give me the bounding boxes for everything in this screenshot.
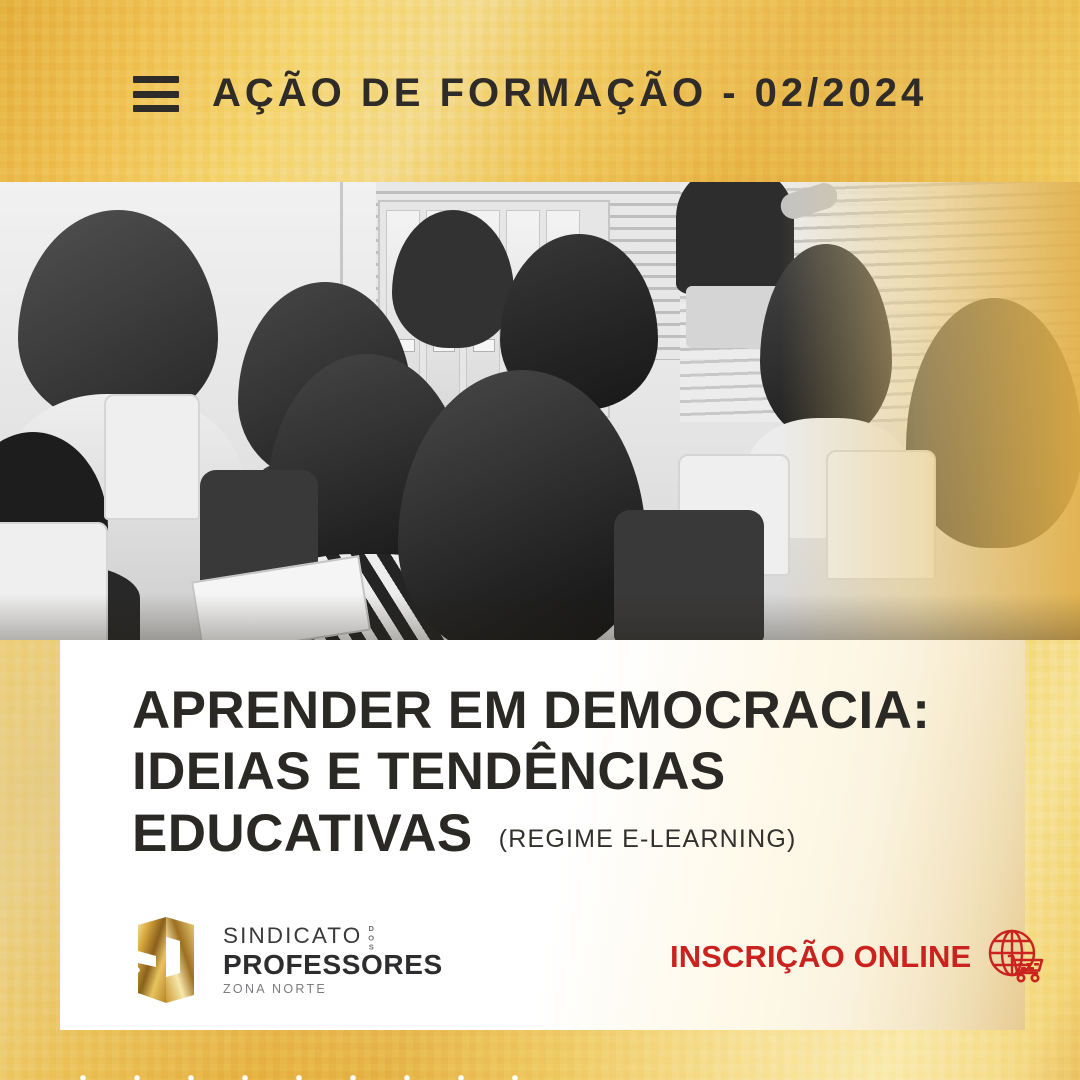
content-card: APRENDER EM DEMOCRACIA: IDEIAS E TENDÊNC… (60, 640, 1025, 1030)
logo-sindicato: SINDICATO (223, 925, 362, 948)
logo-dos: DOS (367, 924, 373, 946)
inscricao-online-label: INSCRIÇÃO ONLINE (670, 939, 971, 975)
title-block: APRENDER EM DEMOCRACIA: IDEIAS E TENDÊNC… (132, 680, 992, 864)
globe-shopping-cart-icon (985, 928, 1047, 986)
hamburger-menu-icon[interactable] (133, 76, 179, 112)
photo-bottom-shadow (0, 594, 1080, 640)
photo-gold-fade (780, 182, 1080, 640)
menu-bar-3 (133, 105, 179, 112)
logo-wordmark: SINDICATO DOS PROFESSORES ZONA NORTE (223, 925, 443, 995)
menu-bar-2 (133, 91, 179, 98)
logo-professores: PROFESSORES (223, 951, 443, 979)
classroom-photo (0, 182, 1080, 640)
dots-decoration-bottom (34, 1033, 554, 1080)
poster-canvas: AÇÃO DE FORMAÇÃO - 02/2024 (0, 0, 1080, 1080)
organization-logo[interactable]: SINDICATO DOS PROFESSORES ZONA NORTE (125, 915, 443, 1005)
page-title-line-1: APRENDER EM DEMOCRACIA: (132, 680, 992, 741)
page-title-line-2: IDEIAS E TENDÊNCIAS (132, 741, 992, 802)
page-title-row-3: EDUCATIVAS (REGIME E-LEARNING) (132, 803, 992, 864)
inscricao-online-button[interactable]: INSCRIÇÃO ONLINE (670, 928, 1047, 986)
sp-monogram-icon (125, 915, 207, 1005)
logo-zona-norte: ZONA NORTE (223, 983, 443, 996)
photo-chair (104, 394, 200, 520)
page-subtitle: (REGIME E-LEARNING) (499, 825, 797, 854)
photo-presenter-body (676, 182, 794, 294)
header-bar: AÇÃO DE FORMAÇÃO - 02/2024 (0, 0, 1080, 182)
menu-bar-1 (133, 76, 179, 83)
logo-row-1: SINDICATO DOS (223, 925, 443, 948)
page-title-line-3: EDUCATIVAS (132, 803, 473, 864)
header-title: AÇÃO DE FORMAÇÃO - 02/2024 (212, 71, 927, 116)
